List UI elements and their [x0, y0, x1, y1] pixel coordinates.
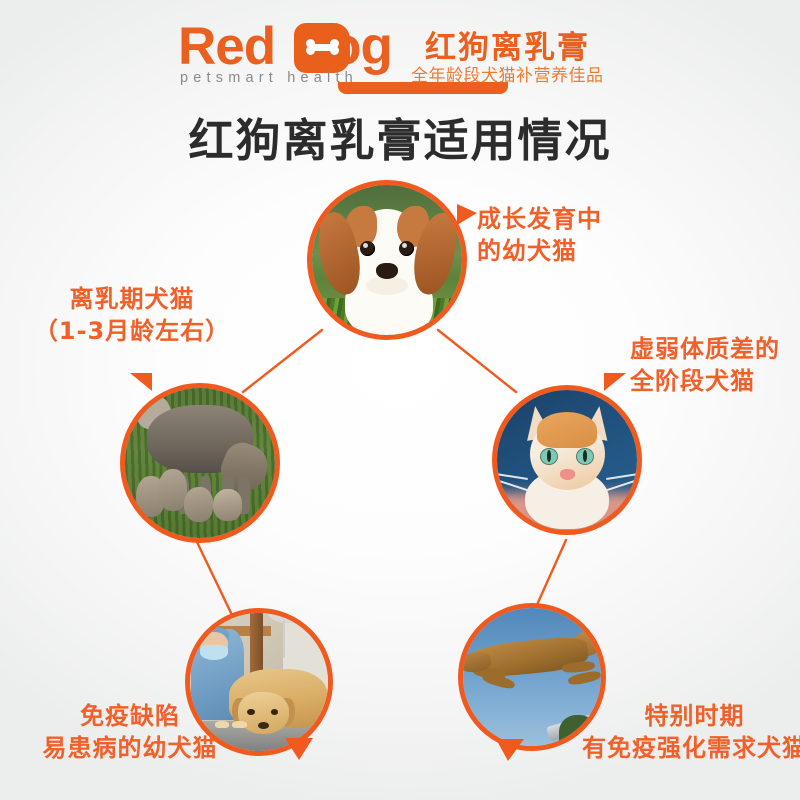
poster-canvas: Redog petsmart health 红狗离乳膏 全年龄段犬猫补营养佳品 … [0, 0, 800, 800]
link-right-to-bottomright [536, 540, 566, 607]
label-weaning: 离乳期犬猫 （1-3月龄左右） [22, 283, 242, 347]
node-special-pointer-icon [496, 739, 524, 761]
link-left-to-bottomleft [196, 540, 232, 615]
node-weak-circle[interactable] [492, 385, 642, 535]
node-growth-circle[interactable] [307, 180, 467, 340]
label-special: 特别时期 有免疫强化需求犬猫 [582, 700, 800, 764]
node-growth[interactable] [307, 180, 467, 340]
pentagon-diagram: 成长发育中 的幼犬猫 虚弱体质差的 [0, 0, 800, 800]
wolf-mother-nursing-pups-photo [120, 383, 280, 543]
node-weak-pointer-icon [604, 373, 626, 391]
ginger-kitten-photo [492, 385, 642, 535]
node-weaning-pointer-icon [130, 373, 152, 391]
node-immune-pointer-icon [285, 738, 313, 760]
node-weak[interactable] [492, 385, 642, 535]
label-growth: 成长发育中 的幼犬猫 [477, 203, 602, 267]
label-weak: 虚弱体质差的 全阶段犬猫 [630, 333, 780, 397]
node-growth-pointer-icon [457, 204, 477, 225]
node-weaning[interactable] [120, 383, 280, 543]
label-immune: 免疫缺陷 易患病的幼犬猫 [30, 700, 230, 764]
cavalier-puppy-on-grass-photo [307, 180, 467, 340]
node-weaning-circle[interactable] [120, 383, 280, 543]
